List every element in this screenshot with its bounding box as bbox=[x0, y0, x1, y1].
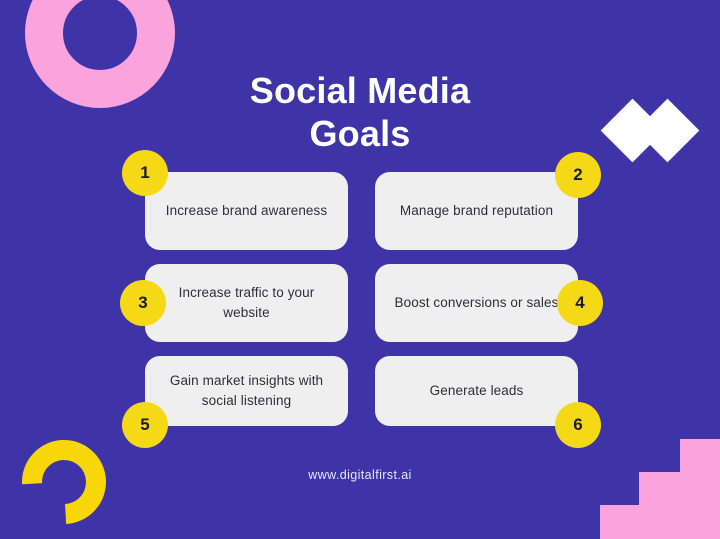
goal-badge-4: 4 bbox=[557, 280, 603, 326]
goal-item-5[interactable]: Gain market insights with social listeni… bbox=[145, 356, 348, 426]
goal-item-6[interactable]: Generate leads 6 bbox=[375, 356, 578, 426]
pink-staircase-decoration bbox=[600, 439, 720, 539]
goals-grid: Increase brand awareness 1 Manage brand … bbox=[145, 172, 578, 440]
goal-card-1[interactable]: Increase brand awareness bbox=[145, 172, 348, 250]
goals-row-2: Increase traffic to your website 3 Boost… bbox=[145, 264, 578, 342]
goal-badge-3: 3 bbox=[120, 280, 166, 326]
goal-badge-1: 1 bbox=[122, 150, 168, 196]
goals-row-3: Gain market insights with social listeni… bbox=[145, 356, 578, 426]
title-line-2: Goals bbox=[0, 113, 720, 155]
goal-card-3[interactable]: Increase traffic to your website bbox=[145, 264, 348, 342]
goal-label-2: Manage brand reputation bbox=[400, 201, 553, 221]
goal-card-6[interactable]: Generate leads bbox=[375, 356, 578, 426]
goal-badge-6: 6 bbox=[555, 402, 601, 448]
staircase-step-1 bbox=[600, 505, 720, 539]
goal-item-1[interactable]: Increase brand awareness 1 bbox=[145, 172, 348, 250]
goal-label-5: Gain market insights with social listeni… bbox=[161, 371, 332, 412]
goals-row-1: Increase brand awareness 1 Manage brand … bbox=[145, 172, 578, 250]
goal-badge-2: 2 bbox=[555, 152, 601, 198]
goal-card-5[interactable]: Gain market insights with social listeni… bbox=[145, 356, 348, 426]
goal-card-4[interactable]: Boost conversions or sales bbox=[375, 264, 578, 342]
goal-card-2[interactable]: Manage brand reputation bbox=[375, 172, 578, 250]
goal-label-3: Increase traffic to your website bbox=[161, 283, 332, 324]
title-line-1: Social Media bbox=[0, 70, 720, 112]
infographic-poster: Social Media Goals Increase brand awaren… bbox=[0, 0, 720, 539]
goal-label-1: Increase brand awareness bbox=[166, 201, 328, 221]
goal-label-6: Generate leads bbox=[430, 381, 524, 401]
goal-item-2[interactable]: Manage brand reputation 2 bbox=[375, 172, 578, 250]
goal-item-3[interactable]: Increase traffic to your website 3 bbox=[145, 264, 348, 342]
goal-badge-5: 5 bbox=[122, 402, 168, 448]
goal-label-4: Boost conversions or sales bbox=[395, 293, 559, 313]
page-title: Social Media Goals bbox=[0, 70, 720, 155]
goal-item-4[interactable]: Boost conversions or sales 4 bbox=[375, 264, 578, 342]
footer-website-url[interactable]: www.digitalfirst.ai bbox=[0, 468, 720, 482]
